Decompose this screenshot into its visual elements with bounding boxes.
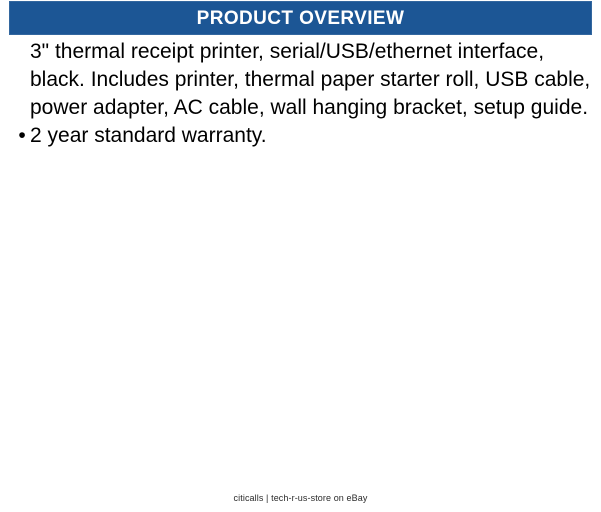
section-title: PRODUCT OVERVIEW (197, 9, 405, 28)
product-overview-page: PRODUCT OVERVIEW • 3" thermal receipt pr… (0, 0, 601, 512)
overview-list: • 3" thermal receipt printer, serial/USB… (12, 38, 596, 150)
page-footer: citicalls | tech-r-us-store on eBay (0, 488, 601, 506)
footer-credit: citicalls | tech-r-us-store on eBay (234, 492, 368, 505)
list-item: • 3" thermal receipt printer, serial/USB… (12, 38, 596, 150)
product-overview-banner: PRODUCT OVERVIEW (9, 1, 592, 35)
product-overview-body: • 3" thermal receipt printer, serial/USB… (12, 38, 596, 150)
bullet-icon: • (16, 122, 28, 150)
overview-description: 3" thermal receipt printer, serial/USB/e… (30, 38, 596, 150)
